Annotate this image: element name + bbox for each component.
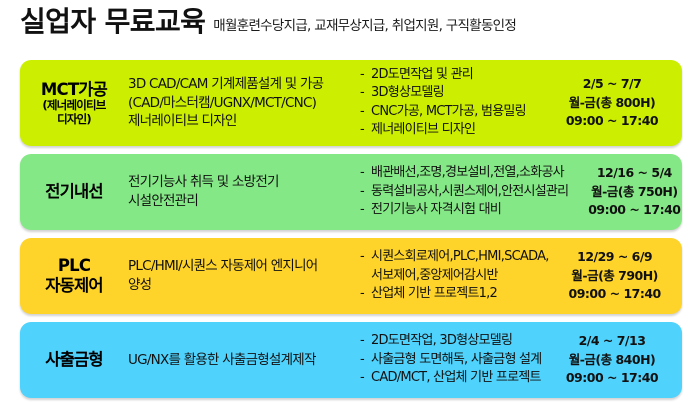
course-card[interactable]: PLC자동제어PLC/HMI/시퀀스 자동제어 엔지니어양성-시퀀스회로제어,P…	[20, 238, 682, 314]
course-topic-text: 전기기능사 자격시험 대비	[371, 201, 568, 219]
course-period: 12/16 ~ 5/4	[572, 164, 696, 183]
course-category-sub: (제너레이티브	[26, 99, 122, 113]
course-topic-text: 시퀀스회로제어,PLC,HMI,SCADA,	[371, 248, 549, 266]
course-category-main: MCT가공	[26, 80, 122, 99]
course-listing-page: 실업자 무료교육 매월훈련수당지급, 교재무상지급, 취업지원, 구직활동인정 …	[0, 0, 700, 420]
course-topic-text: 배관배선,조명,경보설비,전열,소화공사	[371, 164, 568, 182]
course-days-hours: 월-금(총 790H)	[553, 267, 677, 286]
course-topics: -2D도면작업, 3D형상모델링-사출금형 도면해독, 사출금형 설계-CAD/…	[354, 332, 550, 387]
course-title: 3D CAD/CAM 기계제품설계 및 가공(CAD/마스터캠/UGNX/MCT…	[124, 75, 354, 131]
course-topic-text: CAD/MCT, 산업체 기반 프로젝트	[371, 369, 546, 387]
page-subtitle: 매월훈련수당지급, 교재무상지급, 취업지원, 구직활동인정	[213, 20, 516, 34]
course-title-line: (CAD/마스터캠/UGNX/MCT/CNC)	[128, 94, 350, 113]
bullet-dash-icon: -	[360, 164, 371, 182]
course-topics: -시퀀스회로제어,PLC,HMI,SCADA,-서보제어,중앙제어감시반-산업체…	[354, 248, 553, 303]
course-topics: -배관배선,조명,경보설비,전열,소화공사-동력설비공사,시퀀스제어,안전시설관…	[354, 164, 572, 219]
course-period: 2/4 ~ 7/13	[550, 332, 674, 351]
course-time: 09:00 ~ 17:40	[553, 285, 677, 304]
course-schedule: 12/29 ~ 6/9월-금(총 790H)09:00 ~ 17:40	[553, 248, 677, 304]
course-title-line: 3D CAD/CAM 기계제품설계 및 가공	[128, 75, 350, 94]
page-header: 실업자 무료교육 매월훈련수당지급, 교재무상지급, 취업지원, 구직활동인정	[20, 8, 690, 54]
course-title: UG/NX를 활용한 사출금형설계제작	[124, 351, 354, 370]
course-days-hours: 월-금(총 750H)	[572, 183, 696, 202]
course-time: 09:00 ~ 17:40	[550, 369, 674, 388]
course-category-sub: 디자인)	[26, 113, 122, 127]
bullet-dash-icon: -	[360, 351, 371, 369]
course-topic-item: -전기기능사 자격시험 대비	[360, 201, 568, 219]
course-title-line: 제너레이티브 디자인	[128, 112, 350, 131]
course-topic-text: 3D형상모델링	[371, 84, 546, 102]
bullet-dash-icon: -	[360, 183, 371, 201]
course-schedule: 2/5 ~ 7/7월-금(총 800H)09:00 ~ 17:40	[550, 75, 674, 131]
bullet-dash-icon: -	[360, 248, 371, 266]
course-title-line: 시설안전관리	[128, 192, 350, 211]
course-title-line: 전기기능사 취득 및 소방전기	[128, 173, 350, 192]
course-topic-text: 서보제어,중앙제어감시반	[371, 267, 549, 285]
course-category-main-second-line: 자동제어	[26, 276, 122, 295]
course-topic-text: 제너레이티브 디자인	[371, 121, 546, 139]
course-topic-item: -산업체 기반 프로젝트1,2	[360, 285, 549, 303]
course-card[interactable]: MCT가공(제너레이티브디자인)3D CAD/CAM 기계제품설계 및 가공(C…	[20, 60, 682, 146]
page-title: 실업자 무료교육	[20, 8, 205, 36]
course-category: PLC자동제어	[24, 256, 124, 295]
course-topic-text: 산업체 기반 프로젝트1,2	[371, 285, 549, 303]
course-category-main: 사출금형	[26, 350, 122, 369]
course-topic-item: -제너레이티브 디자인	[360, 121, 546, 139]
bullet-dash-icon: -	[360, 332, 371, 350]
course-topics: -2D도면작업 및 관리-3D형상모델링-CNC가공, MCT가공, 범용밀링-…	[354, 66, 550, 140]
course-schedule: 2/4 ~ 7/13월-금(총 840H)09:00 ~ 17:40	[550, 332, 674, 388]
bullet-dash-icon: -	[360, 121, 371, 139]
course-list: MCT가공(제너레이티브디자인)3D CAD/CAM 기계제품설계 및 가공(C…	[20, 60, 682, 398]
course-topic-text: 2D도면작업 및 관리	[371, 66, 546, 84]
course-topic-item: -서보제어,중앙제어감시반	[360, 267, 549, 285]
course-title-line: UG/NX를 활용한 사출금형설계제작	[128, 351, 350, 370]
course-days-hours: 월-금(총 840H)	[550, 351, 674, 370]
course-card[interactable]: 사출금형UG/NX를 활용한 사출금형설계제작-2D도면작업, 3D형상모델링-…	[20, 322, 682, 398]
course-topic-item: -2D도면작업, 3D형상모델링	[360, 332, 546, 350]
course-title-line: PLC/HMI/시퀀스 자동제어 엔지니어	[128, 257, 350, 276]
bullet-dash-icon: -	[360, 201, 371, 219]
course-topic-item: -사출금형 도면해독, 사출금형 설계	[360, 351, 546, 369]
course-schedule: 12/16 ~ 5/4월-금(총 750H)09:00 ~ 17:40	[572, 164, 696, 220]
course-card[interactable]: 전기내선전기기능사 취득 및 소방전기시설안전관리-배관배선,조명,경보설비,전…	[20, 154, 682, 230]
course-category-main: 전기내선	[26, 182, 122, 201]
course-topic-item: -배관배선,조명,경보설비,전열,소화공사	[360, 164, 568, 182]
course-topic-text: 2D도면작업, 3D형상모델링	[371, 332, 546, 350]
course-title-line: 양성	[128, 276, 350, 295]
course-category-main: PLC	[26, 256, 122, 275]
course-period: 2/5 ~ 7/7	[550, 75, 674, 94]
course-title: PLC/HMI/시퀀스 자동제어 엔지니어양성	[124, 257, 354, 294]
course-time: 09:00 ~ 17:40	[550, 112, 674, 131]
bullet-dash-icon: -	[360, 103, 371, 121]
course-topic-text: CNC가공, MCT가공, 범용밀링	[371, 103, 546, 121]
course-time: 09:00 ~ 17:40	[572, 201, 696, 220]
course-title: 전기기능사 취득 및 소방전기시설안전관리	[124, 173, 354, 210]
course-topic-item: -3D형상모델링	[360, 84, 546, 102]
bullet-dash-icon: -	[360, 285, 371, 303]
course-topic-text: 동력설비공사,시퀀스제어,안전시설관리	[371, 183, 568, 201]
course-days-hours: 월-금(총 800H)	[550, 94, 674, 113]
bullet-dash-icon: -	[360, 66, 371, 84]
course-topic-item: -동력설비공사,시퀀스제어,안전시설관리	[360, 183, 568, 201]
course-category: 전기내선	[24, 182, 124, 201]
course-topic-item: -CAD/MCT, 산업체 기반 프로젝트	[360, 369, 546, 387]
bullet-dash-icon: -	[360, 369, 371, 387]
course-category: 사출금형	[24, 350, 124, 369]
bullet-dash-icon: -	[360, 84, 371, 102]
course-topic-item: -CNC가공, MCT가공, 범용밀링	[360, 103, 546, 121]
course-period: 12/29 ~ 6/9	[553, 248, 677, 267]
course-topic-item: -2D도면작업 및 관리	[360, 66, 546, 84]
course-topic-text: 사출금형 도면해독, 사출금형 설계	[371, 351, 546, 369]
course-topic-item: -시퀀스회로제어,PLC,HMI,SCADA,	[360, 248, 549, 266]
course-category: MCT가공(제너레이티브디자인)	[24, 80, 124, 127]
